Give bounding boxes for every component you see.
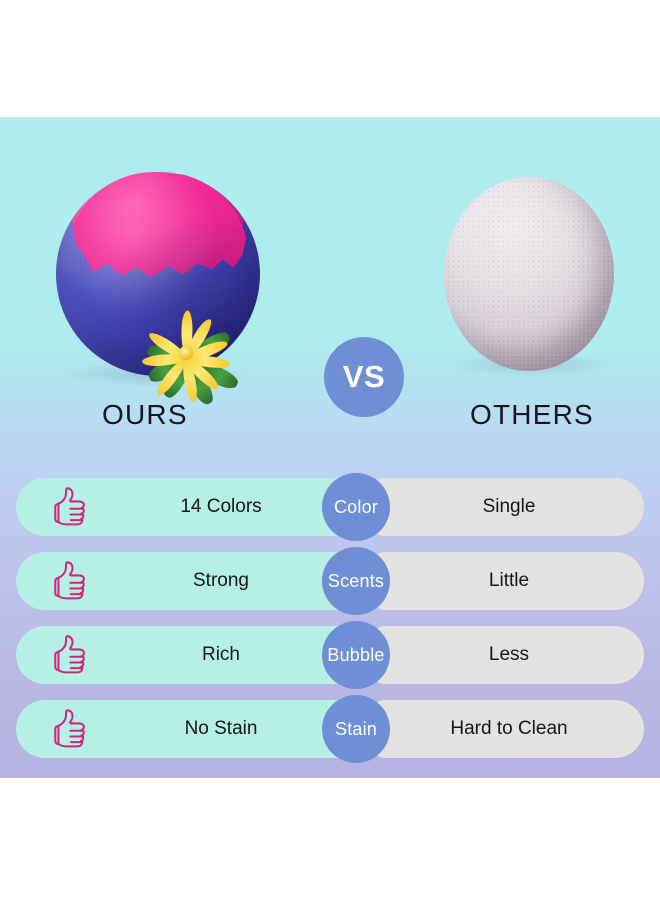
vs-label: VS	[343, 359, 385, 395]
hero-section: VS	[0, 117, 660, 447]
attribute-label: Scents	[328, 571, 384, 592]
ylang-flower-decoration	[118, 305, 254, 401]
ours-value-label: 14 Colors	[96, 496, 346, 518]
comparison-row: No Stain Stain Hard to Clean	[16, 700, 644, 758]
others-value-pill: Hard to Clean	[374, 700, 644, 758]
thumbs-up-icon	[48, 632, 94, 678]
page-root: VS OURS OTHERS	[0, 0, 660, 900]
attribute-label: Bubble	[327, 645, 384, 666]
others-value-label: Little	[374, 570, 644, 592]
ours-value-pill: No Stain	[16, 700, 366, 758]
thumbs-up-icon	[48, 706, 94, 752]
others-value-label: Less	[374, 644, 644, 666]
ours-value-pill: Rich	[16, 626, 366, 684]
thumbs-up-icon	[48, 558, 94, 604]
attribute-badge: Stain	[322, 695, 390, 763]
others-bath-bomb-texture	[444, 177, 614, 371]
ours-value-pill: 14 Colors	[16, 478, 366, 536]
ours-value-pill: Strong	[16, 552, 366, 610]
flower-center	[179, 346, 193, 360]
comparison-row: Strong Scents Little	[16, 552, 644, 610]
comparison-rows: 14 Colors Color Single	[0, 478, 660, 778]
caption-ours: OURS	[102, 399, 188, 431]
others-value-pill: Single	[374, 478, 644, 536]
others-value-label: Hard to Clean	[374, 718, 644, 740]
comparison-row: Rich Bubble Less	[16, 626, 644, 684]
others-value-pill: Little	[374, 552, 644, 610]
others-value-label: Single	[374, 496, 644, 518]
comparison-row: 14 Colors Color Single	[16, 478, 644, 536]
others-bath-bomb-image	[444, 177, 614, 371]
attribute-badge: Scents	[322, 547, 390, 615]
others-value-pill: Less	[374, 626, 644, 684]
caption-others: OTHERS	[470, 399, 594, 431]
ours-value-label: Rich	[96, 644, 346, 666]
ours-value-label: Strong	[96, 570, 346, 592]
thumbs-up-icon	[48, 484, 94, 530]
comparison-graphic: VS OURS OTHERS	[0, 117, 660, 778]
column-captions: OURS OTHERS	[0, 399, 660, 451]
attribute-badge: Color	[322, 473, 390, 541]
ours-value-label: No Stain	[96, 718, 346, 740]
attribute-label: Color	[334, 497, 378, 518]
attribute-badge: Bubble	[322, 621, 390, 689]
attribute-label: Stain	[335, 719, 377, 740]
